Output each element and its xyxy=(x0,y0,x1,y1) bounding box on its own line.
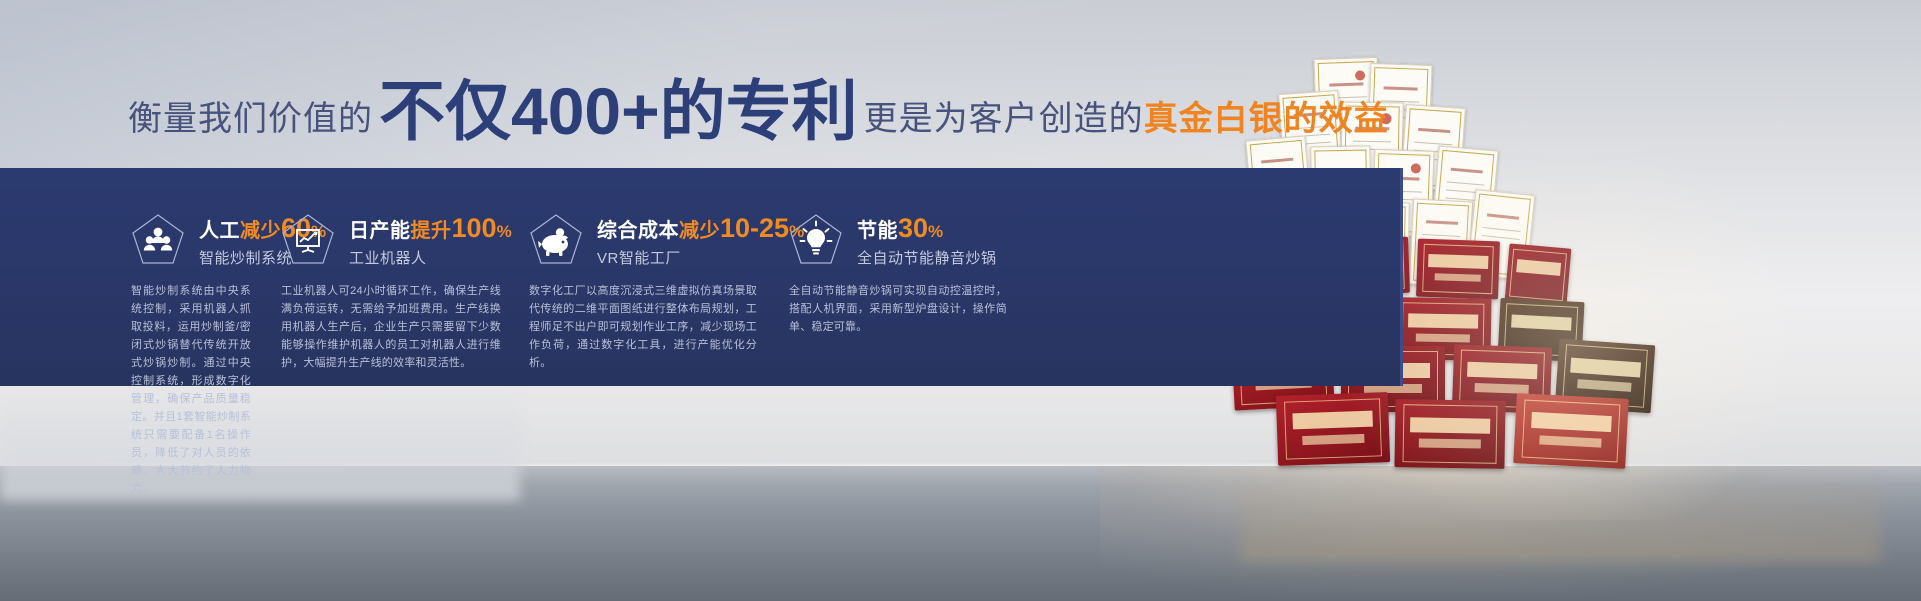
feature-text: 综合成本减少10-25% VR智能工厂 xyxy=(597,215,805,266)
feature-title-prefix: 人工 xyxy=(199,220,240,242)
award-plaque xyxy=(1416,239,1500,300)
feature-title: 节能30% xyxy=(857,215,997,242)
headline-emphasis: 不仅400+的专利 xyxy=(379,78,858,144)
feature-title-verb: 减少 xyxy=(679,220,720,242)
feature-description-list: 智能炒制系统由中央系统控制，采用机器人抓取投料，运用炒制釜/密闭式炒锅替代传统开… xyxy=(0,282,1403,386)
feature-item-labor[interactable]: 人工减少60% 智能炒制系统 xyxy=(0,168,271,288)
feature-item-energy[interactable]: 节能30% 全自动节能静音炒锅 xyxy=(779,168,1029,288)
feature-title-verb: 提升 xyxy=(411,220,452,242)
feature-item-cost[interactable]: 综合成本减少10-25% VR智能工厂 xyxy=(521,168,779,288)
award-plaque xyxy=(1505,243,1572,306)
feature-text: 节能30% 全自动节能静音炒锅 xyxy=(857,215,997,266)
page-title: 衡量我们价值的 不仅400+的专利 更是为客户创造的 真金白银的效益 xyxy=(128,74,1389,136)
feature-number: 30 xyxy=(898,213,928,243)
banner-stage: 衡量我们价值的 不仅400+的专利 更是为客户创造的 真金白银的效益 xyxy=(0,0,1921,601)
award-plaque xyxy=(1394,399,1505,469)
feature-title-prefix: 节能 xyxy=(857,220,898,242)
feature-title: 日产能提升100% xyxy=(349,215,512,242)
feature-list: 人工减少60% 智能炒制系统 xyxy=(0,168,1403,288)
feature-subtitle: 工业机器人 xyxy=(349,251,512,266)
award-plaque xyxy=(1513,393,1629,469)
feature-unit: % xyxy=(928,222,944,241)
stack-reflection xyxy=(1240,470,1880,562)
feature-title-prefix: 日产能 xyxy=(349,220,411,242)
feature-subtitle: VR智能工厂 xyxy=(597,251,805,266)
award-plaque xyxy=(1276,392,1390,466)
piggy-bank-icon xyxy=(529,213,583,267)
feature-description: 数字化工厂以高度沉浸式三维虚拟仿真场景取代传统的二维平面图纸进行整体布局规划，工… xyxy=(521,282,779,386)
feature-unit: % xyxy=(497,222,513,241)
light-bulb-icon xyxy=(789,213,843,267)
feature-title-prefix: 综合成本 xyxy=(597,220,679,242)
feature-item-capacity[interactable]: 日产能提升100% 工业机器人 xyxy=(271,168,521,288)
left-haze xyxy=(0,380,520,500)
headline-middle: 更是为客户创造的 xyxy=(864,102,1144,136)
feature-description: 智能炒制系统由中央系统控制，采用机器人抓取投料，运用炒制釜/密闭式炒锅替代传统开… xyxy=(0,282,271,386)
headline-lead: 衡量我们价值的 xyxy=(128,102,373,136)
feature-number: 100 xyxy=(452,213,497,243)
people-group-icon xyxy=(131,213,185,267)
feature-title: 综合成本减少10-25% xyxy=(597,215,805,242)
feature-subtitle: 全自动节能静音炒锅 xyxy=(857,251,997,266)
headline-accent: 真金白银的效益 xyxy=(1144,102,1389,136)
feature-description: 全自动节能静音炒锅可实现自动控温控时，搭配人机界面，采用新型炉盘设计，操作简单、… xyxy=(779,282,1029,386)
feature-text: 日产能提升100% 工业机器人 xyxy=(349,215,512,266)
feature-description: 工业机器人可24小时循环工作，确保生产线满负荷运转，无需给予加班费用。生产线换用… xyxy=(271,282,521,386)
chart-board-icon xyxy=(281,213,335,267)
